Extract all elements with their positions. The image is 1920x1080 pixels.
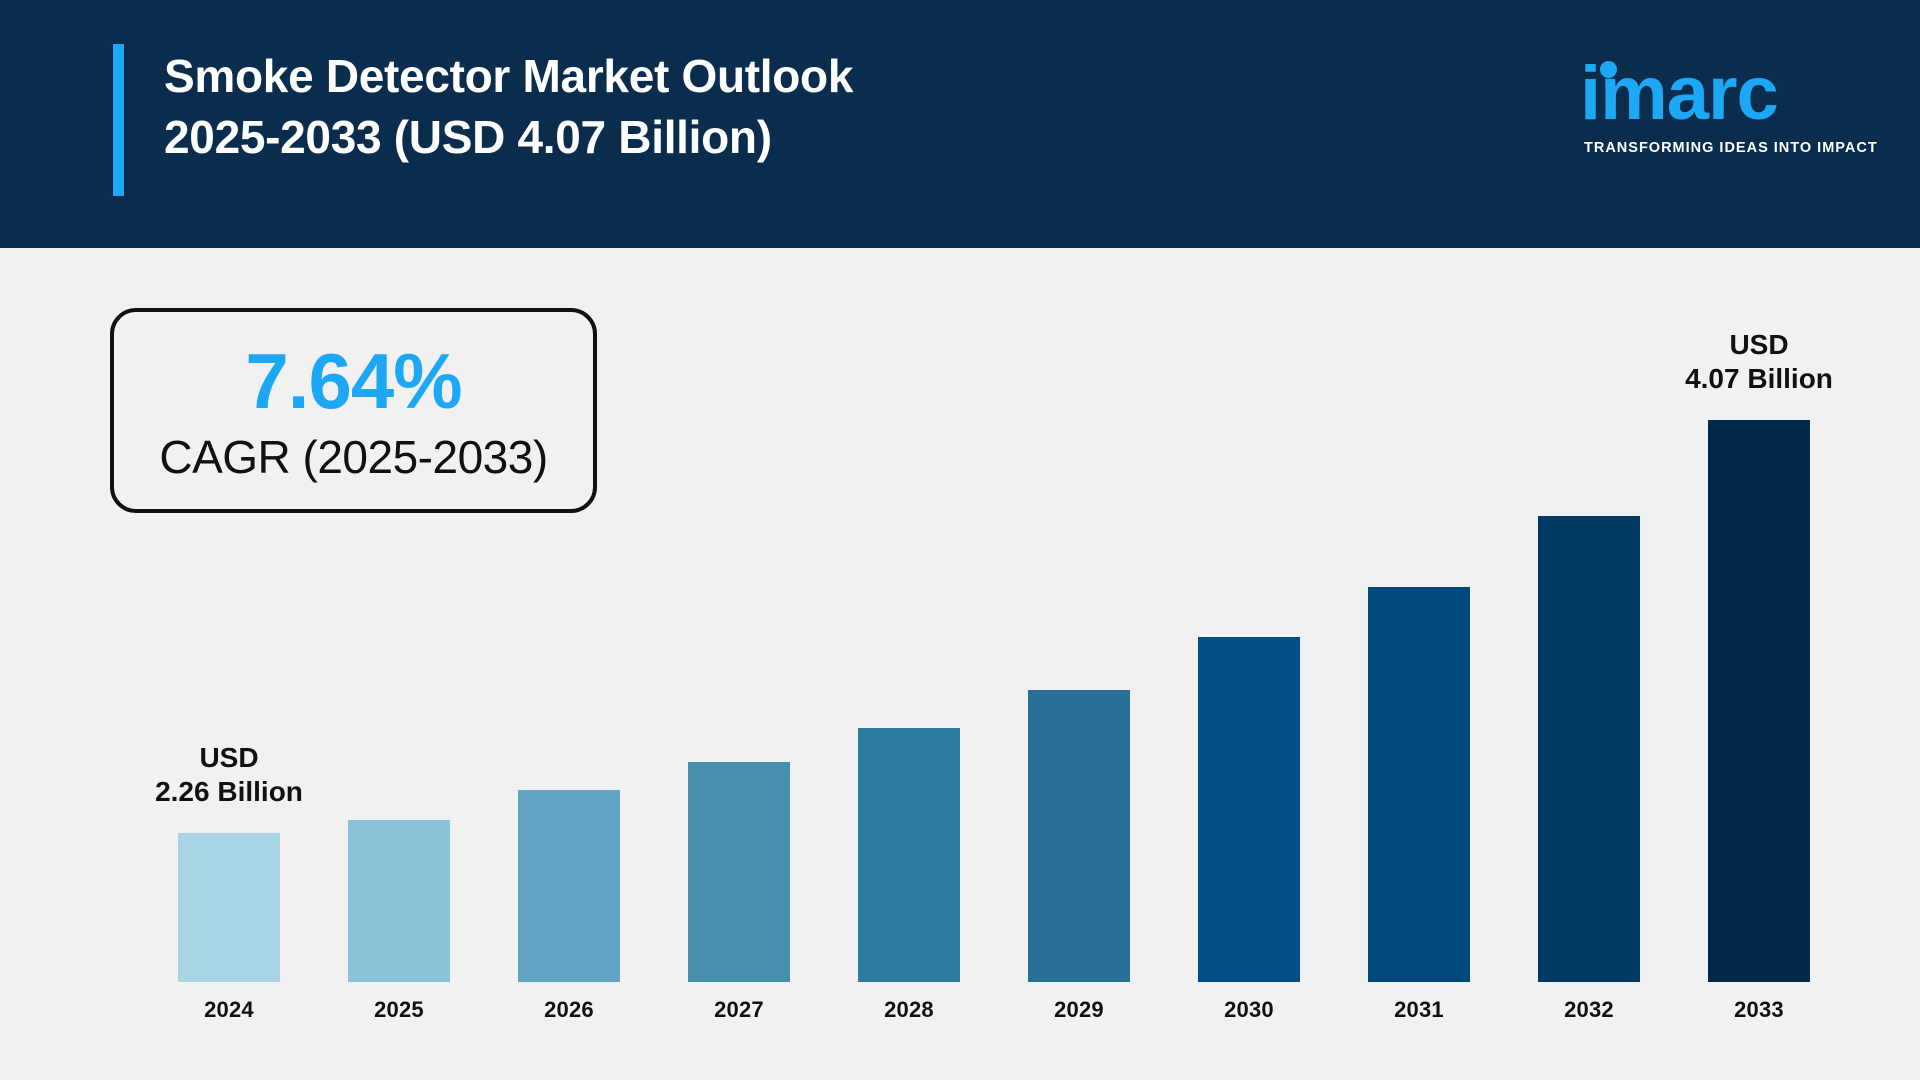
- callout-end-line-2: 4.07 Billion: [1659, 362, 1859, 396]
- bar-2029: [1028, 690, 1130, 982]
- bar-2024: [178, 833, 280, 982]
- bar-2033: [1708, 420, 1810, 982]
- callout-end-value: USD 4.07 Billion: [1659, 328, 1859, 396]
- bar-2026: [518, 790, 620, 982]
- bar-2030: [1198, 637, 1300, 982]
- x-label-2028: 2028: [858, 997, 960, 1023]
- infographic-page: Smoke Detector Market Outlook 2025-2033 …: [0, 0, 1920, 1080]
- callout-start-line-2: 2.26 Billion: [129, 775, 329, 809]
- x-label-2032: 2032: [1538, 997, 1640, 1023]
- bar-2032: [1538, 516, 1640, 982]
- x-label-2026: 2026: [518, 997, 620, 1023]
- x-label-2027: 2027: [688, 997, 790, 1023]
- bar-2028: [858, 728, 960, 982]
- callout-start-line-1: USD: [129, 741, 329, 775]
- callout-end-line-1: USD: [1659, 328, 1859, 362]
- callout-start-value: USD 2.26 Billion: [129, 741, 329, 809]
- bar-2027: [688, 762, 790, 982]
- x-label-2033: 2033: [1708, 997, 1810, 1023]
- bar-chart: USD 2.26 Billion USD 4.07 Billion 202420…: [0, 0, 1920, 1080]
- x-label-2025: 2025: [348, 997, 450, 1023]
- x-label-2029: 2029: [1028, 997, 1130, 1023]
- x-label-2024: 2024: [178, 997, 280, 1023]
- bar-2031: [1368, 587, 1470, 982]
- x-label-2031: 2031: [1368, 997, 1470, 1023]
- x-label-2030: 2030: [1198, 997, 1300, 1023]
- bar-2025: [348, 820, 450, 982]
